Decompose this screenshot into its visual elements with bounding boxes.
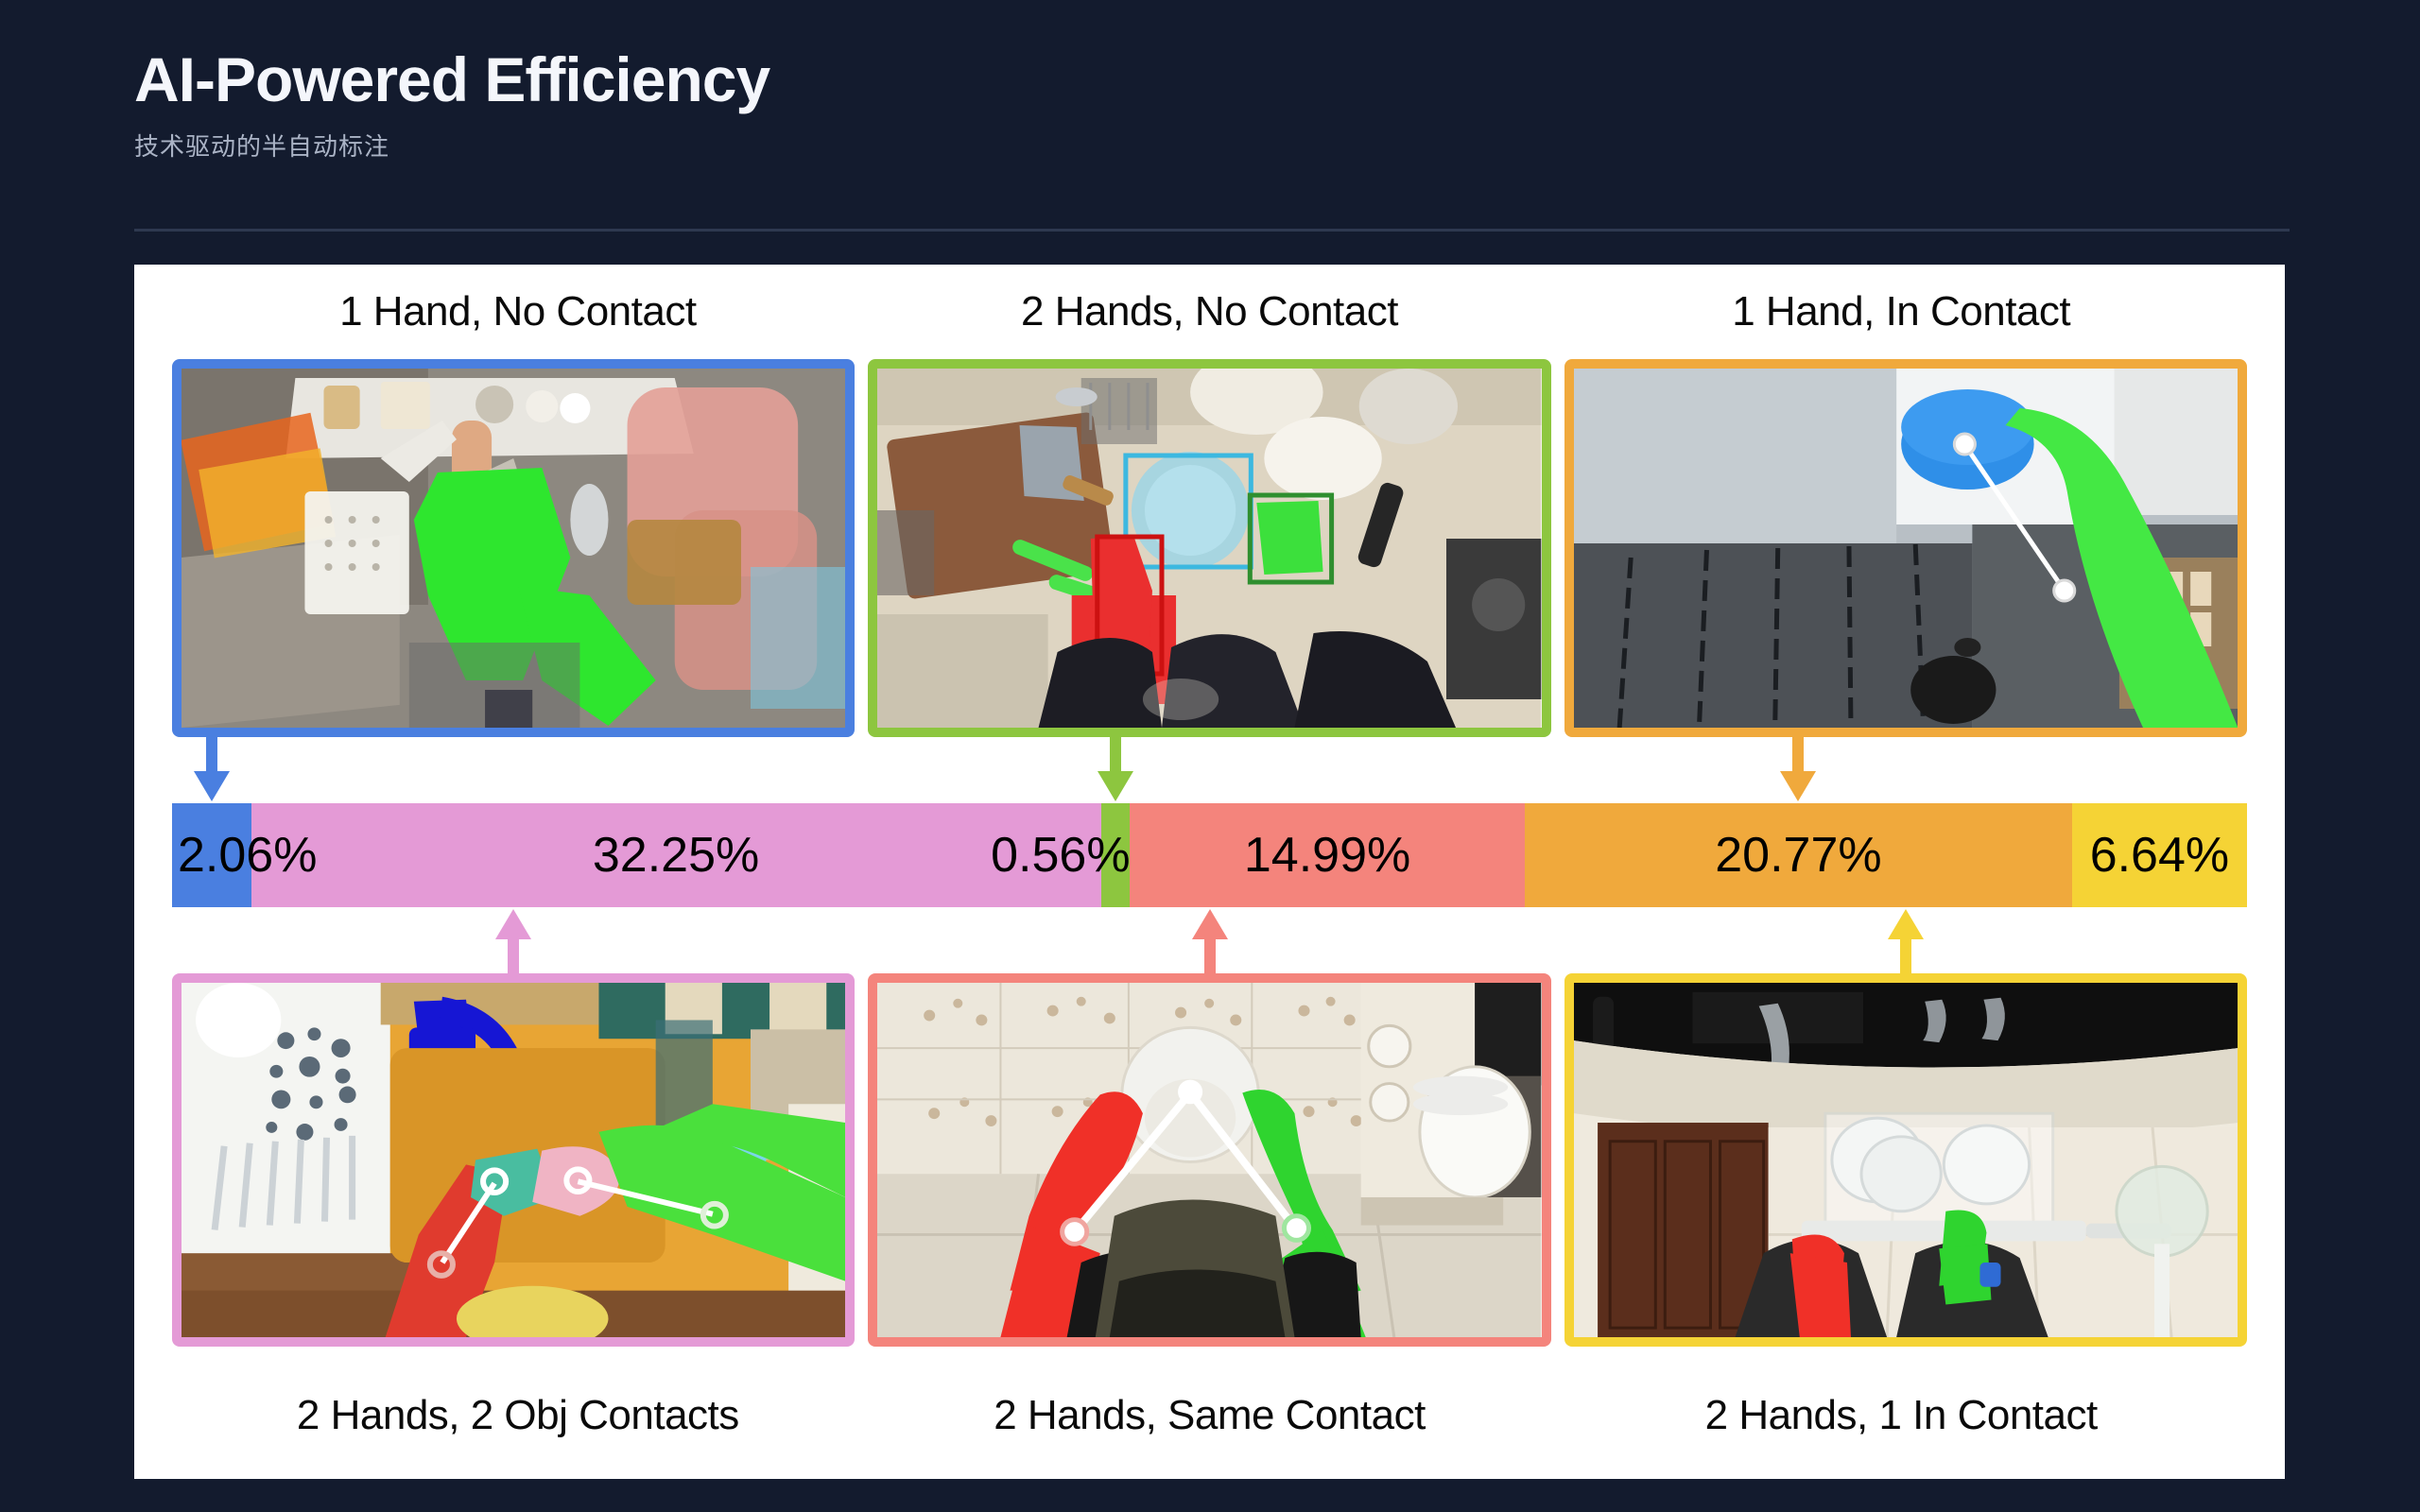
figure-content: 1 Hand, No Contact 2 Hands, No Contact 1… xyxy=(134,265,2285,1479)
bar-segment-1-hand-no-contact[interactable]: 2.06% xyxy=(172,803,251,907)
bottom-label-2-hands-1-in-contact: 2 Hands, 1 In Contact xyxy=(1555,1392,2247,1439)
bottom-label-row: 2 Hands, 2 Obj Contacts 2 Hands, Same Co… xyxy=(172,1392,2247,1462)
panel-photo-dish-rack xyxy=(1574,983,2238,1337)
bottom-label-2-hands-2-obj-contacts: 2 Hands, 2 Obj Contacts xyxy=(172,1392,864,1439)
panel-2-hands-no-contact[interactable] xyxy=(868,359,1550,737)
arrow-up-violet xyxy=(495,909,531,973)
top-panel-row xyxy=(172,359,2247,737)
panel-2-hands-1-in-contact[interactable] xyxy=(1564,973,2247,1347)
bottom-panel-row xyxy=(172,973,2247,1347)
top-label-row: 1 Hand, No Contact 2 Hands, No Contact 1… xyxy=(172,288,2247,354)
bar-segment-2-hands-2-obj-contacts[interactable]: 32.25% xyxy=(251,803,1101,907)
slide-root: AI-Powered Efficiency 技术驱动的半自动标注 1 Hand,… xyxy=(0,0,2420,1512)
header-divider xyxy=(134,229,2290,232)
panel-photo-cabinet-lid xyxy=(1574,369,2238,728)
bar-value-3: 14.99% xyxy=(1244,827,1410,884)
bar-segment-2-hands-1-in-contact[interactable]: 6.64% xyxy=(2072,803,2247,907)
arrow-up-yellow xyxy=(1888,909,1924,973)
panel-2-hands-same-contact[interactable] xyxy=(868,973,1550,1347)
top-label-1-hand-in-contact: 1 Hand, In Contact xyxy=(1555,288,2247,354)
bar-value-2: 0.56% xyxy=(991,827,1130,884)
bar-value-1: 32.25% xyxy=(593,827,759,884)
page-subtitle: 技术驱动的半自动标注 xyxy=(134,128,2290,163)
panel-photo-counter-bowl xyxy=(877,369,1541,728)
arrow-down-orange xyxy=(1780,737,1816,801)
arrow-up-salmon xyxy=(1192,909,1228,973)
panel-photo-kitchen-shelf xyxy=(181,369,845,728)
top-label-2-hands-no-contact: 2 Hands, No Contact xyxy=(864,288,1556,354)
page-title: AI-Powered Efficiency xyxy=(134,45,2290,114)
top-label-1-hand-no-contact: 1 Hand, No Contact xyxy=(172,288,864,354)
bar-value-4: 20.77% xyxy=(1715,827,1881,884)
panel-photo-plate-two-hands xyxy=(877,983,1541,1337)
bar-segment-2-hands-no-contact[interactable]: 0.56% xyxy=(1101,803,1131,907)
panel-2-hands-2-obj-contacts[interactable] xyxy=(172,973,855,1347)
bar-segment-1-hand-in-contact[interactable]: 20.77% xyxy=(1525,803,2072,907)
bar-value-5: 6.64% xyxy=(2090,827,2229,884)
arrow-down-blue xyxy=(194,737,230,801)
panel-1-hand-no-contact[interactable] xyxy=(172,359,855,737)
arrow-down-green xyxy=(1098,737,1133,801)
bar-segment-2-hands-same-contact[interactable]: 14.99% xyxy=(1130,803,1525,907)
panel-1-hand-in-contact[interactable] xyxy=(1564,359,2247,737)
slide-header: AI-Powered Efficiency 技术驱动的半自动标注 xyxy=(134,45,2290,163)
panel-photo-yellow-sink xyxy=(181,983,845,1337)
figure-card: 1 Hand, No Contact 2 Hands, No Contact 1… xyxy=(134,265,2285,1479)
bottom-label-2-hands-same-contact: 2 Hands, Same Contact xyxy=(864,1392,1556,1439)
bar-value-0: 2.06% xyxy=(172,827,317,884)
distribution-bar: 2.06% 32.25% 0.56% 14.99% 20.77% 6.64% xyxy=(172,803,2247,907)
